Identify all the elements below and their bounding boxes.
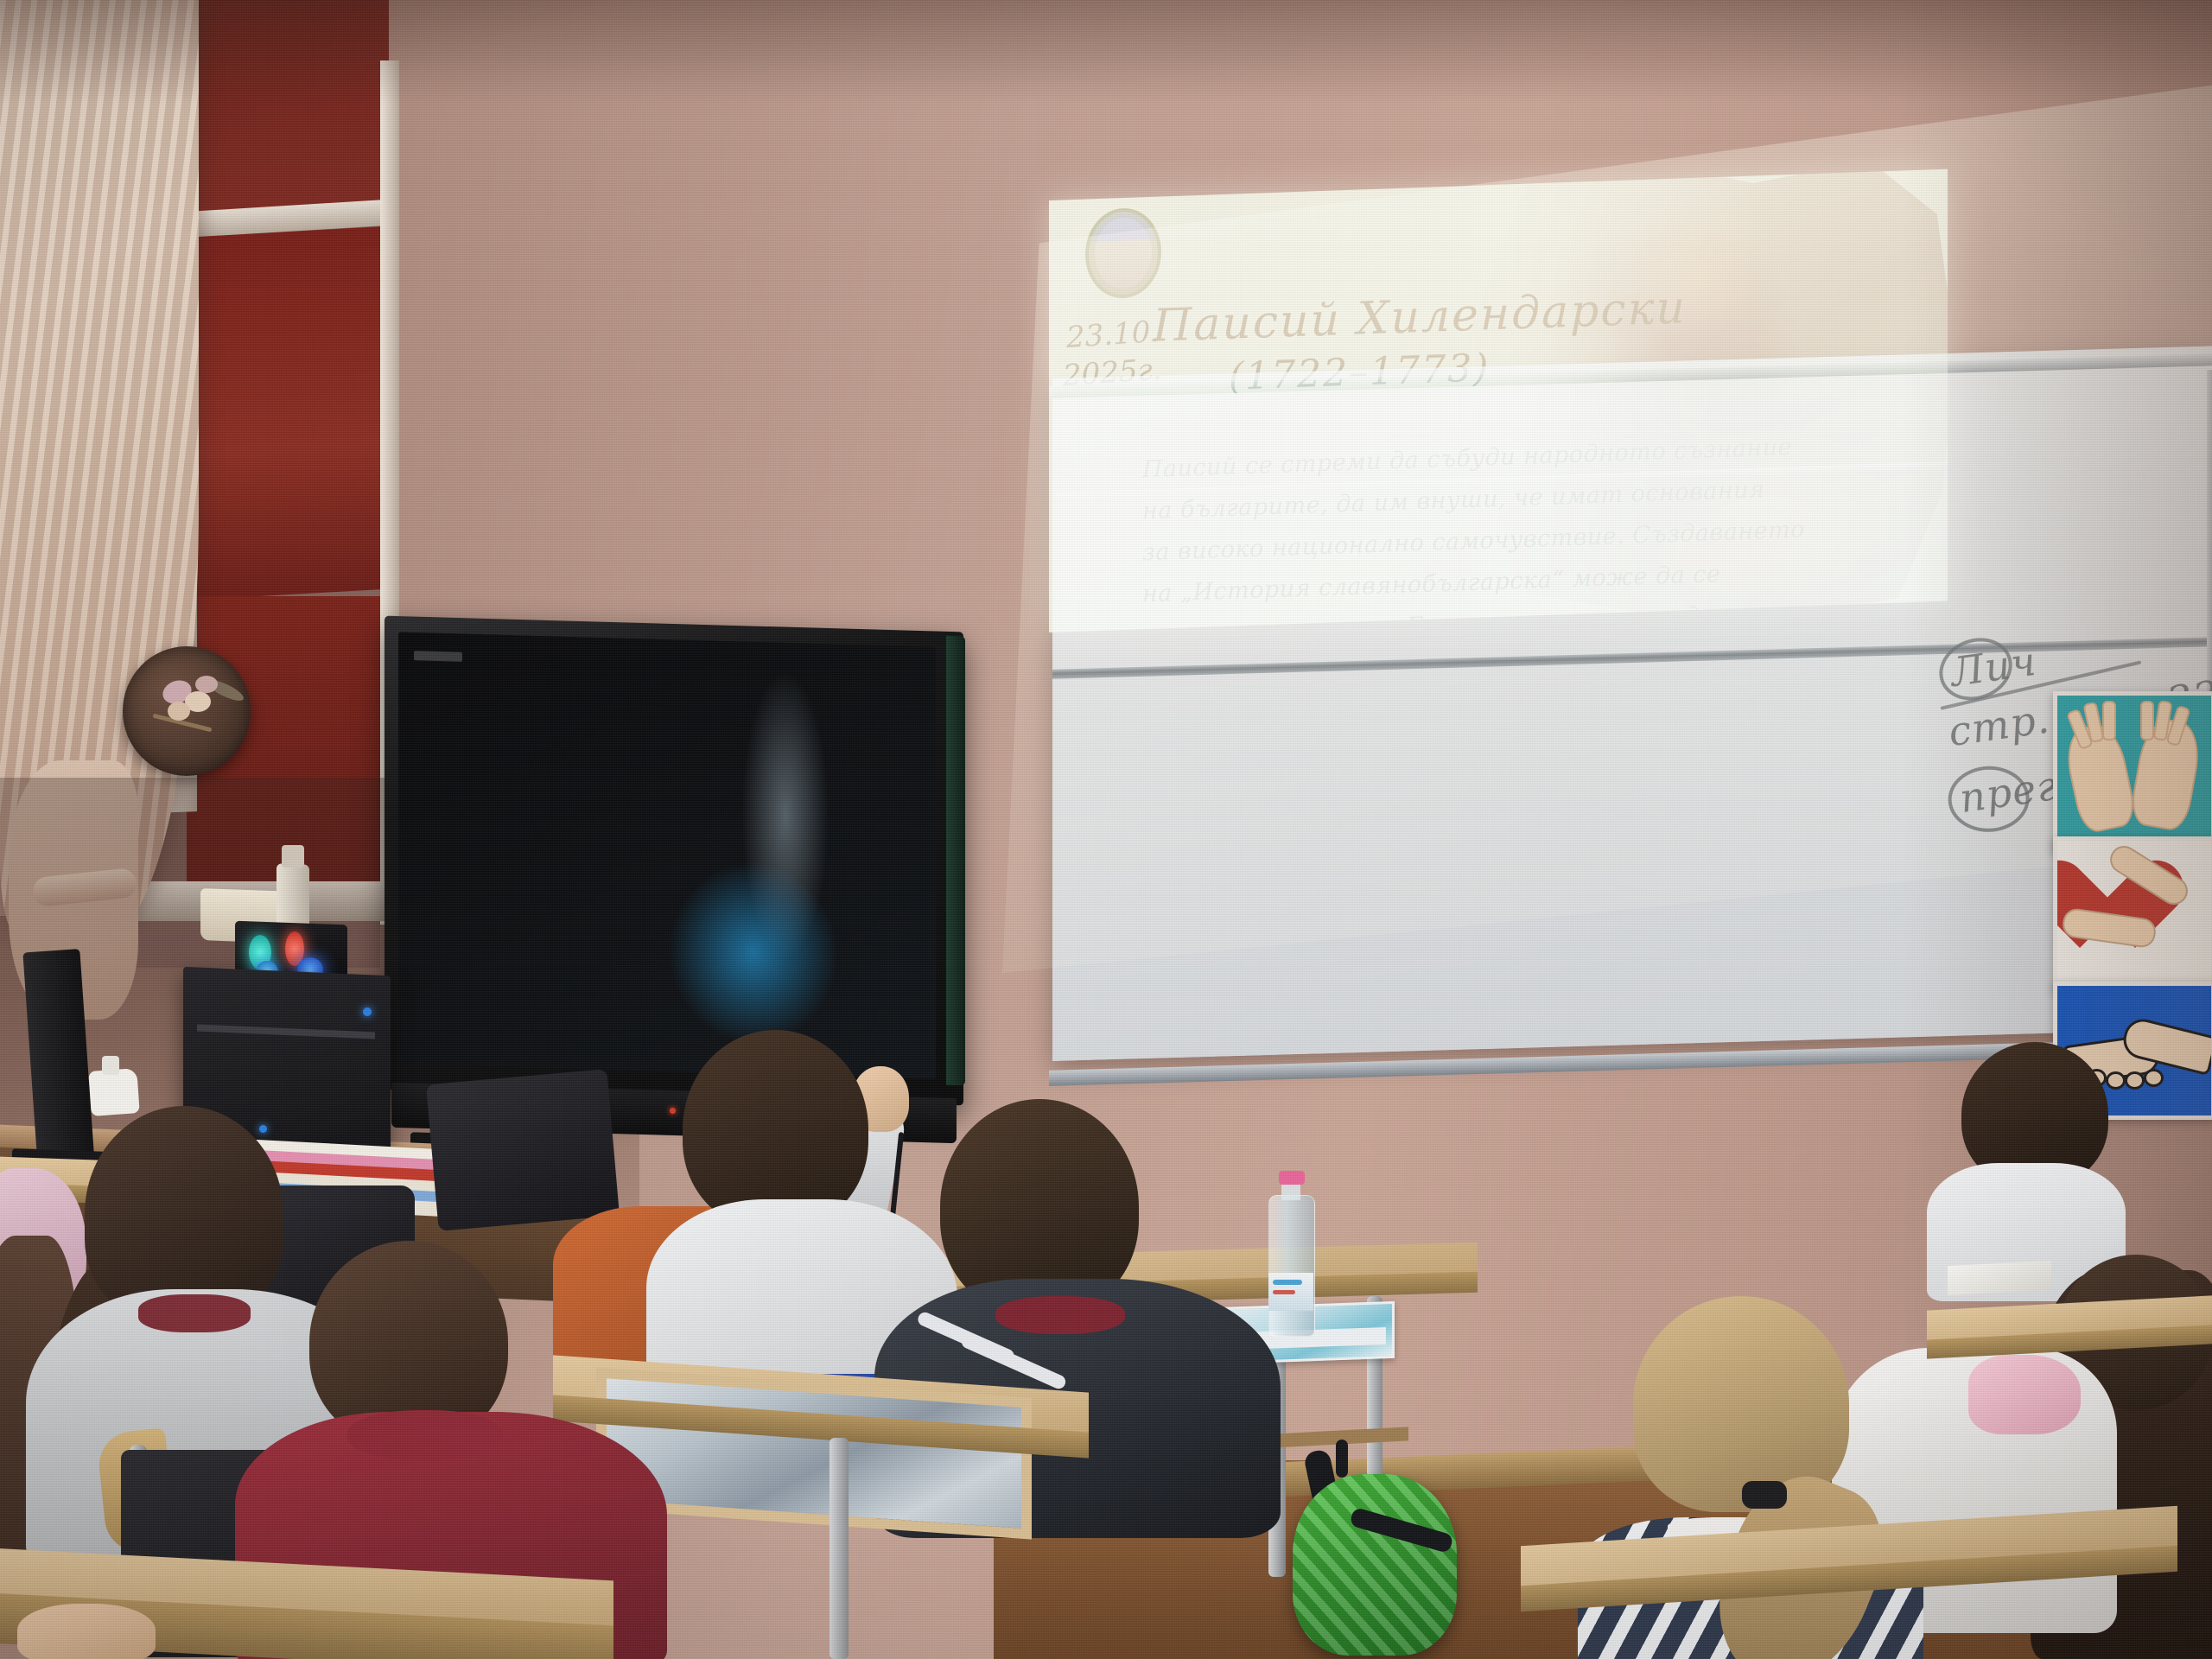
emblem-ring	[1089, 211, 1158, 296]
window-blind-middle[interactable]	[187, 226, 394, 600]
slide-date-line-1: 23.10.	[1065, 315, 1160, 355]
school-emblem-icon	[1085, 207, 1161, 299]
panel-brand-logo	[414, 651, 462, 662]
classroom-photo: Лич стр. 18 и 22 преговор 23.10. 2025г. …	[0, 0, 2212, 1659]
pump-head-icon[interactable]	[102, 1056, 119, 1075]
green-backpack[interactable]	[1293, 1474, 1457, 1656]
pc-power-led-icon	[363, 1007, 372, 1016]
backpack-hook	[1336, 1440, 1348, 1478]
round-dried-flower-plaque-icon	[123, 646, 251, 776]
slide-date-line-2: 2025г.	[1062, 352, 1162, 393]
student-back-white-shirt	[1927, 1042, 2126, 1267]
hair-tie-icon	[1742, 1481, 1787, 1509]
plaque-flower	[168, 702, 190, 721]
desk-leg	[829, 1438, 849, 1659]
projected-slide: 23.10. 2025г. Паисий Хилендарски (1722–1…	[1049, 169, 1948, 632]
pump-head-icon[interactable]	[282, 845, 304, 868]
collar	[995, 1296, 1125, 1334]
plaque-flower	[195, 676, 218, 693]
student-hand-icon	[17, 1604, 156, 1659]
panel-screen[interactable]	[398, 632, 936, 1078]
notebook[interactable]	[1948, 1261, 2051, 1295]
panel-side-edge	[946, 636, 965, 1086]
wall-shadow	[0, 0, 2212, 104]
slide-canvas: 23.10. 2025г. Паисий Хилендарски (1722–1…	[1049, 169, 1948, 632]
collar	[138, 1294, 251, 1332]
collar	[347, 1410, 503, 1460]
slide-years: (1722–1773)	[1229, 346, 1490, 399]
